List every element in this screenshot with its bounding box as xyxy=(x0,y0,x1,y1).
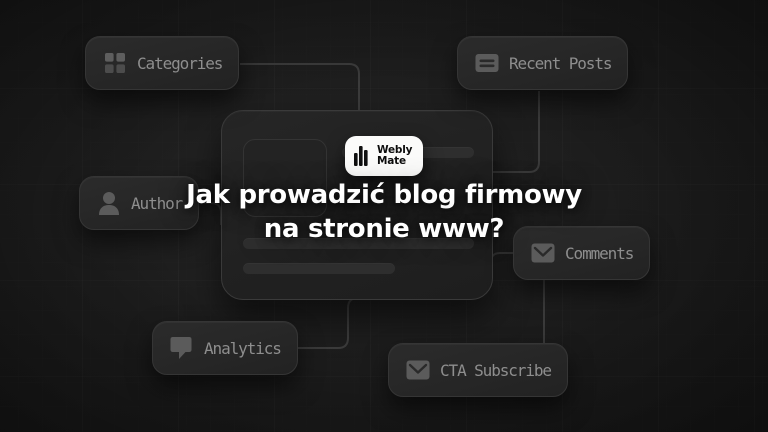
grid-icon xyxy=(102,50,128,76)
bar-chart-icon xyxy=(354,146,371,166)
brand-badge[interactable]: Webly Mate xyxy=(345,136,423,176)
node-analytics-label: Analytics xyxy=(204,339,281,358)
node-recent-posts[interactable]: Recent Posts xyxy=(457,36,628,90)
envelope-icon xyxy=(405,357,431,383)
brand-name-line1: Webly xyxy=(377,144,412,156)
chat-bubble-icon xyxy=(169,335,195,361)
page-title-line2: na stronie www? xyxy=(0,212,768,246)
node-cta-subscribe[interactable]: CTA Subscribe xyxy=(388,343,568,397)
node-analytics[interactable]: Analytics xyxy=(152,321,298,375)
brand-name: Webly Mate xyxy=(377,145,412,168)
node-cta-subscribe-label: CTA Subscribe xyxy=(440,361,551,380)
node-comments-label: Comments xyxy=(565,244,633,263)
article-icon xyxy=(474,50,500,76)
page-title: Jak prowadzić blog firmowy na stronie ww… xyxy=(0,178,768,246)
blog-diagram-graphic: Webly Mate Jak prowadzić blog firmowy na… xyxy=(0,0,768,432)
node-recent-posts-label: Recent Posts xyxy=(509,54,611,73)
page-title-line1: Jak prowadzić blog firmowy xyxy=(186,180,582,210)
node-categories[interactable]: Categories xyxy=(85,36,239,90)
node-categories-label: Categories xyxy=(137,54,222,73)
brand-name-line2: Mate xyxy=(377,155,406,167)
